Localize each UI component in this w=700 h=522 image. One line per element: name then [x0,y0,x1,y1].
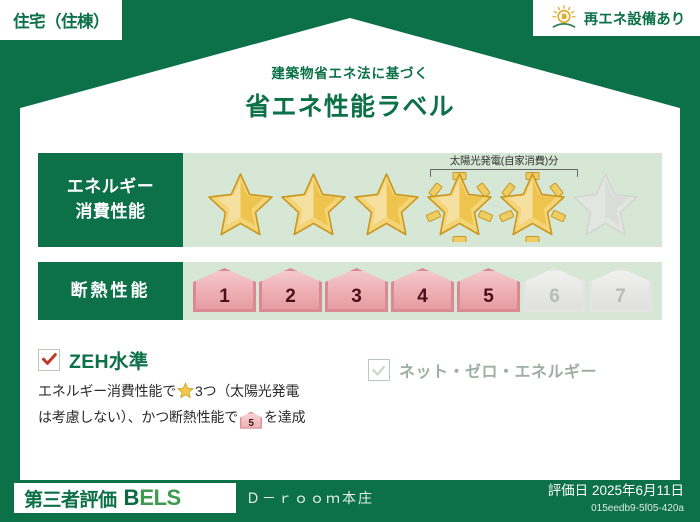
insulation-level-scale: 1234567 [183,262,662,320]
energy-performance-label-box: エネルギー 消費性能 [38,153,183,247]
evaluation-id: 015eedb9-5f05-420a [591,503,684,514]
energy-performance-label: 住宅（住棟） 再エネ設備あり 建築物省エネ法に基づく [0,0,700,522]
renewable-equipment-label: 再エネ設備あり [584,8,686,29]
check-icon [42,353,57,366]
insulation-level-achieved: 4 [391,268,454,312]
star-filled [423,170,496,242]
zeh-title: ZEH水準 [69,345,149,374]
zeh-description: エネルギー消費性能で3つ（太陽光発電は考慮しない）、かつ断熱性能で5を達成 [38,380,368,429]
bels-logo-els: ELS [139,485,180,511]
zeh-criterion: ZEH水準 エネルギー消費性能で3つ（太陽光発電は考慮しない）、かつ断熱性能で5… [38,345,368,429]
check-icon-faint [372,364,387,377]
dwelling-type-label: 住宅（住棟） [13,8,109,32]
zeh-header: ZEH水準 [38,345,368,374]
zeh-desc-part4: を達成 [264,409,305,425]
star-filled [350,170,423,242]
zeh-checkbox [38,349,60,371]
solar-sun-icon [550,5,578,31]
net-zero-checkbox [368,359,390,381]
energy-label-line2: 消費性能 [76,200,146,225]
building-name: Ｄ－ｒｏｏｍ本庄 [246,488,374,508]
zeh-desc-part1: エネルギー消費性能で [38,383,176,399]
insulation-rating-area: 1234567 [183,262,662,320]
third-party-eval-label: 第三者評価 [24,485,117,512]
zeh-desc-part2: 3つ（太陽光発電 [195,383,299,399]
bels-logo-b: B [124,485,140,511]
insulation-performance-label-box: 断熱性能 [38,262,183,320]
evaluation-date: 評価日 2025年6月11日 [548,479,684,499]
insulation-level-achieved: 5 [457,268,520,312]
solar-annotation-bracket [430,169,578,177]
insulation-level-inactive: 6 [523,268,586,312]
renewable-equipment-badge: 再エネ設備あり [533,0,700,36]
net-zero-criterion: ネット・ゼロ・エネルギー [368,345,662,429]
net-zero-header: ネット・ゼロ・エネルギー [368,358,662,382]
star-filled [204,170,277,242]
insulation-label: 断熱性能 [71,279,151,304]
solar-annotation-text: 太陽光発電(自家消費)分 [430,153,578,168]
energy-rating-area: 太陽光発電(自家消費)分 [183,153,662,247]
net-zero-title: ネット・ゼロ・エネルギー [399,358,597,382]
insulation-performance-row: 断熱性能 1234567 [38,262,662,320]
dwelling-type-badge: 住宅（住棟） [0,0,122,40]
insulation-level-achieved: 2 [259,268,322,312]
label-footer: 第三者評価 B ELS Ｄ－ｒｏｏｍ本庄 評価日 2025年6月11日 015e… [0,476,700,522]
label-main-title: 省エネ性能ラベル [0,87,700,123]
insulation-level-inactive: 7 [589,268,652,312]
bels-certification-box: 第三者評価 B ELS [14,483,236,513]
solar-generation-annotation: 太陽光発電(自家消費)分 [430,153,578,177]
energy-label-line1: エネルギー [67,175,155,200]
label-title-block: 建築物省エネ法に基づく 省エネ性能ラベル [0,62,700,123]
insulation-level-achieved: 3 [325,268,388,312]
star-filled [496,170,569,242]
star-empty [569,170,642,242]
star-filled [277,170,350,242]
label-subtitle: 建築物省エネ法に基づく [0,62,700,82]
insulation-level-achieved: 1 [193,268,256,312]
criteria-section: ZEH水準 エネルギー消費性能で3つ（太陽光発電は考慮しない）、かつ断熱性能で5… [38,345,662,429]
insulation-badge-inline: 5 [240,412,262,429]
zeh-desc-part3: は考慮しない）、かつ断熱性能で [38,409,238,425]
energy-performance-row: エネルギー 消費性能 太陽光発電(自家消費)分 [38,153,662,247]
star-icon [177,382,194,406]
energy-star-rating [183,169,662,243]
